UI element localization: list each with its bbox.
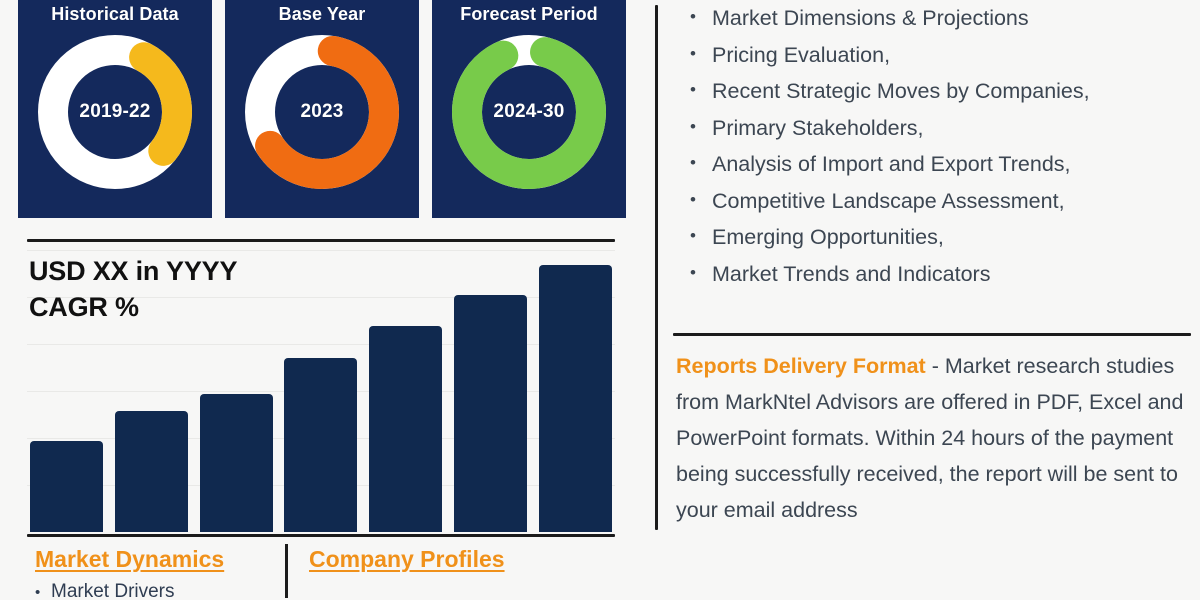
right-column: Market Dimensions & ProjectionsPricing E… [660, 0, 1200, 600]
scope-list-item: Emerging Opportunities, [684, 219, 1200, 256]
market-dynamics-item: Market Drivers [35, 580, 175, 600]
headings-vertical-divider [285, 544, 288, 598]
delivery-body: - Market research studies from MarkNtel … [676, 354, 1183, 522]
donut-svg [444, 27, 614, 197]
bar-1 [30, 441, 103, 532]
scope-list-item: Primary Stakeholders, [684, 110, 1200, 147]
period-panel-title: Historical Data [51, 4, 179, 25]
donut-chart-forecast-period: 2024-30 [444, 27, 614, 197]
scope-list-item: Competitive Landscape Assessment, [684, 183, 1200, 220]
scope-list-item: Market Trends and Indicators [684, 256, 1200, 293]
reports-delivery-format-block: Reports Delivery Format - Market researc… [676, 348, 1188, 528]
period-panel-base-year: Base Year 2023 [225, 0, 419, 218]
donut-chart-base-year: 2023 [237, 27, 407, 197]
bar-2 [115, 411, 188, 532]
donut-chart-historical-data: 2019-22 [30, 27, 200, 197]
market-size-bar-chart: USD XX in YYYY CAGR % [27, 250, 615, 532]
bar-3 [200, 394, 273, 532]
bar-4 [284, 358, 357, 532]
report-scope-list: Market Dimensions & ProjectionsPricing E… [684, 0, 1200, 292]
bar-7 [539, 265, 612, 532]
delivery-title: Reports Delivery Format [676, 354, 926, 378]
column-divider [655, 5, 658, 530]
heading-company-profiles[interactable]: Company Profiles [309, 546, 505, 573]
period-panel-forecast-period: Forecast Period 2024-30 [432, 0, 626, 218]
divider-above-chart [27, 239, 615, 242]
chart-bars [30, 250, 612, 532]
bottom-headings: Market Dynamics Company Profiles Market … [27, 546, 615, 600]
infographic-page: Historical Data 2019-22 Base Year [0, 0, 1200, 600]
donut-svg [30, 27, 200, 197]
market-dynamics-list: Market Drivers [35, 580, 175, 600]
scope-list-item: Market Dimensions & Projections [684, 0, 1200, 37]
delivery-paragraph: Reports Delivery Format - Market researc… [676, 348, 1188, 528]
bar-6 [454, 295, 527, 532]
scope-list-item: Analysis of Import and Export Trends, [684, 146, 1200, 183]
divider-below-chart [27, 534, 615, 537]
scope-list-item: Recent Strategic Moves by Companies, [684, 73, 1200, 110]
period-panels: Historical Data 2019-22 Base Year [18, 0, 626, 218]
bar-5 [369, 326, 442, 532]
period-panel-title: Base Year [279, 4, 366, 25]
scope-list-item: Pricing Evaluation, [684, 37, 1200, 74]
left-column: Historical Data 2019-22 Base Year [0, 0, 655, 600]
heading-market-dynamics[interactable]: Market Dynamics [35, 546, 224, 573]
period-panel-title: Forecast Period [460, 4, 598, 25]
divider-above-delivery [673, 333, 1191, 336]
donut-svg [237, 27, 407, 197]
period-panel-historical-data: Historical Data 2019-22 [18, 0, 212, 218]
